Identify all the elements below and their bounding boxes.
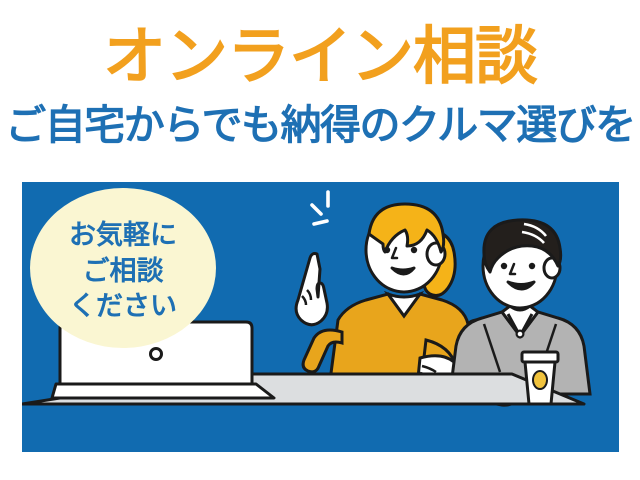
online-consultation-banner: オンライン相談 ご自宅からでも納得のクルマ選びを bbox=[0, 0, 640, 480]
coffee-cup bbox=[522, 352, 558, 404]
pointing-hand bbox=[296, 254, 327, 325]
page-subtitle: ご自宅からでも納得のクルマ選びを bbox=[0, 105, 640, 146]
consultation-badge: お気軽に ご相談 ください bbox=[30, 188, 216, 348]
sparkle-marks bbox=[312, 192, 328, 224]
headline-area: オンライン相談 ご自宅からでも納得のクルマ選びを bbox=[0, 0, 640, 175]
page-title: オンライン相談 bbox=[0, 26, 640, 89]
illustration-panel: お気軽に ご相談 ください bbox=[22, 182, 619, 452]
badge-text: お気軽に ご相談 ください bbox=[30, 218, 216, 325]
pointing-woman bbox=[296, 192, 476, 396]
